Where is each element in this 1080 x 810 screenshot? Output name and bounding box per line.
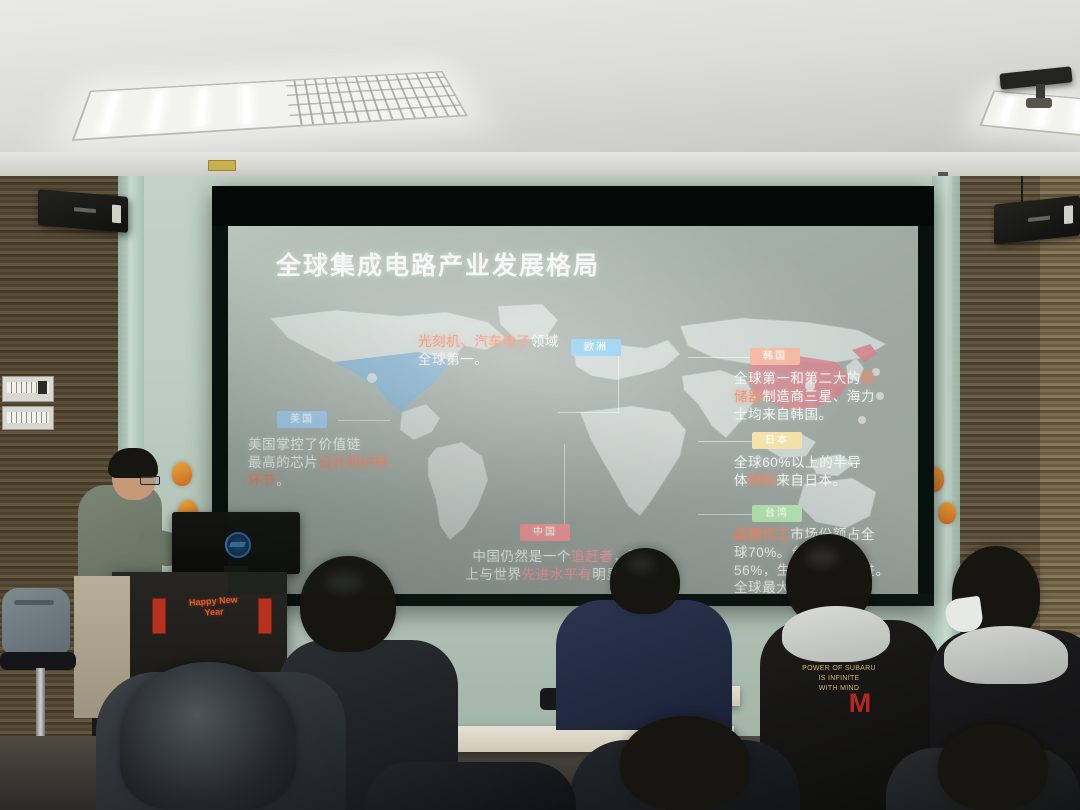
electrical-panel-upper: [2, 376, 54, 402]
callout-line-europe-1: 领域: [531, 334, 559, 349]
audience-head: [300, 556, 396, 652]
backpack-strap: [14, 600, 54, 605]
projector-lens: [1026, 98, 1052, 108]
callout-line-korea-3: 士均来自韩国。: [734, 406, 912, 424]
callout-text-usa: 美国掌控了价值链 最高的芯片设计和IP核 环节。: [248, 436, 408, 489]
audience-head: [620, 716, 750, 810]
map-tag-japan[interactable]: 日本: [752, 432, 802, 449]
hoodie-hood: [944, 626, 1068, 684]
callout-highlight-europe: 光刻机、汽车电子: [418, 334, 531, 349]
shirt-logo-m: M: [846, 688, 874, 718]
audience-head-fur-hood: [120, 662, 296, 810]
callout-line-usa-2: 最高的芯片设计和IP核: [248, 454, 408, 472]
callout-text-europe: 光刻机、汽车电子领域 全球第一。: [418, 333, 608, 369]
leader-line-korea: [688, 357, 750, 358]
callout-line-korea-2: 储器制造商三星、海力: [734, 388, 912, 406]
map-tag-taiwan[interactable]: 台湾: [752, 505, 802, 522]
callout-text-korea: 全球第一和第二大的存 储器制造商三星、海力 士均来自韩国。: [734, 370, 912, 423]
new-year-sticker: [938, 502, 956, 524]
callout-line-japan-1: 全球60%以上的半导: [734, 454, 912, 472]
dell-logo-icon: [225, 532, 251, 558]
glasses-icon: [140, 476, 160, 485]
dell-monitor: [172, 512, 300, 574]
happy-new-year-decal: Happy New Year: [187, 594, 241, 628]
leader-line-europe: [618, 356, 619, 412]
new-year-sticker: [172, 462, 192, 486]
audience-head: [938, 724, 1048, 810]
screen-header-band: [212, 186, 934, 226]
callout-line-japan-2: 体材料来自日本。: [734, 472, 912, 490]
map-tag-usa[interactable]: 美国: [277, 411, 327, 428]
callout-line-usa-1: 美国掌控了价值链: [248, 436, 408, 454]
stool-pole: [36, 668, 45, 738]
map-tag-korea[interactable]: 韩国: [750, 348, 800, 365]
callout-line-europe-2: 全球第一。: [418, 351, 608, 369]
presenter-hair: [108, 448, 158, 478]
callout-line-korea-1: 全球第一和第二大的存: [734, 370, 912, 388]
audience-torso: [366, 762, 576, 810]
leader-line-europe-2: [558, 412, 620, 413]
red-couplet-sticker: [152, 598, 166, 634]
leader-line-usa: [338, 420, 390, 421]
bulkhead-plate: [208, 160, 236, 171]
red-couplet-sticker: [258, 598, 272, 634]
slide-title: 全球集成电路产业发展格局: [276, 246, 600, 282]
audience-torso: [556, 600, 732, 730]
callout-text-japan: 全球60%以上的半导 体材料来自日本。: [734, 454, 912, 490]
map-tag-china[interactable]: 中国: [520, 524, 570, 541]
hoodie-hood: [782, 606, 890, 662]
lecture-hall-photo: 全球集成电路产业发展格局: [0, 0, 1080, 810]
electrical-panel-lower: [2, 406, 54, 430]
leader-line-taiwan: [698, 514, 752, 515]
callout-line-usa-3: 环节。: [248, 472, 408, 490]
leader-line-china: [564, 444, 565, 533]
backpack: [2, 588, 70, 654]
leader-line-japan: [698, 441, 752, 442]
speaker-cable: [1021, 176, 1023, 204]
